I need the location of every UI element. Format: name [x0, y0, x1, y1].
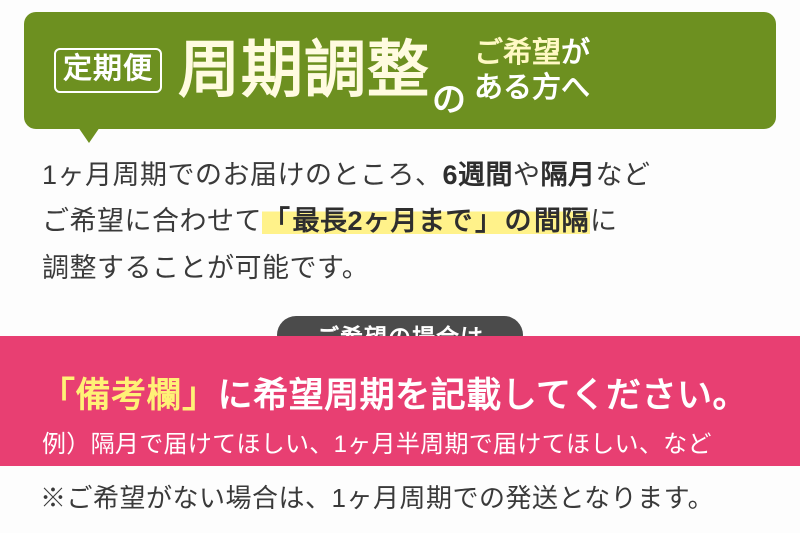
pink-remarks-field: 備考欄	[76, 376, 183, 415]
desc-2d: 間隔	[533, 206, 590, 236]
banner-subtitle-highlight: ご希望	[474, 37, 561, 69]
pink-instruction-band: 「備考欄」に希望周期を記載してください。 例）隔月で届けてほしい、1ヶ月半周期で…	[0, 336, 800, 466]
desc-1d: 隔月	[541, 160, 596, 190]
pink-example-text: 例）隔月で届けてほしい、1ヶ月半周期で届けてほしい、など	[42, 424, 712, 459]
desc-2e: に	[590, 206, 618, 236]
desc-2-quote-open: 「	[262, 206, 292, 236]
banner-title: 周期調整	[178, 40, 430, 102]
banner-subtitle: ご希望が ある方へ	[474, 36, 590, 104]
banner-section: 定期便 周期調整 の ご希望が ある方へ	[0, 0, 800, 148]
pink-quote-open: 「	[40, 376, 76, 415]
promo-page: 定期便 周期調整 の ご希望が ある方へ 1ヶ月周期でのお届けのところ、6週間や…	[0, 0, 800, 533]
description-block: 1ヶ月周期でのお届けのところ、6週間や隔月など ご希望に合わせて「最長2ヶ月まで…	[42, 152, 772, 291]
pink-quote-close: 」	[182, 376, 218, 415]
pink-main-f: を記載してください。	[395, 376, 748, 415]
banner-subtitle-line2: ある方へ	[474, 72, 590, 104]
banner-pointer	[78, 127, 100, 143]
subscription-badge: 定期便	[54, 48, 162, 93]
description-line-2: ご希望に合わせて「最長2ヶ月まで」の間隔に	[42, 198, 772, 244]
footer-note: ※ご希望がない場合は、1ヶ月周期での発送となります。	[40, 478, 714, 515]
desc-1c: や	[513, 160, 541, 190]
banner-subtitle-line1: ご希望が	[474, 37, 590, 69]
desc-2b: 最長2ヶ月まで	[292, 206, 475, 236]
banner-subtitle-tail: が	[561, 37, 590, 69]
desc-2-quote-close: 」	[474, 206, 504, 236]
desc-1e: など	[596, 160, 651, 190]
banner-title-particle: の	[432, 72, 466, 129]
description-line-1: 1ヶ月周期でのお届けのところ、6週間や隔月など	[42, 152, 772, 198]
desc-2a: ご希望に合わせて	[42, 206, 262, 236]
pink-desired-cycle: 希望周期	[253, 376, 395, 415]
pink-instruction-text: 「備考欄」に希望周期を記載してください。	[40, 367, 748, 418]
description-line-3: 調整することが可能です。	[42, 245, 772, 291]
desc-2c: の	[504, 206, 534, 236]
desc-1b: 6週間	[443, 160, 514, 190]
desc-1a: 1ヶ月周期でのお届けのところ、	[42, 160, 443, 190]
pink-main-d: に	[218, 376, 254, 415]
green-banner: 定期便 周期調整 の ご希望が ある方へ	[24, 12, 776, 129]
